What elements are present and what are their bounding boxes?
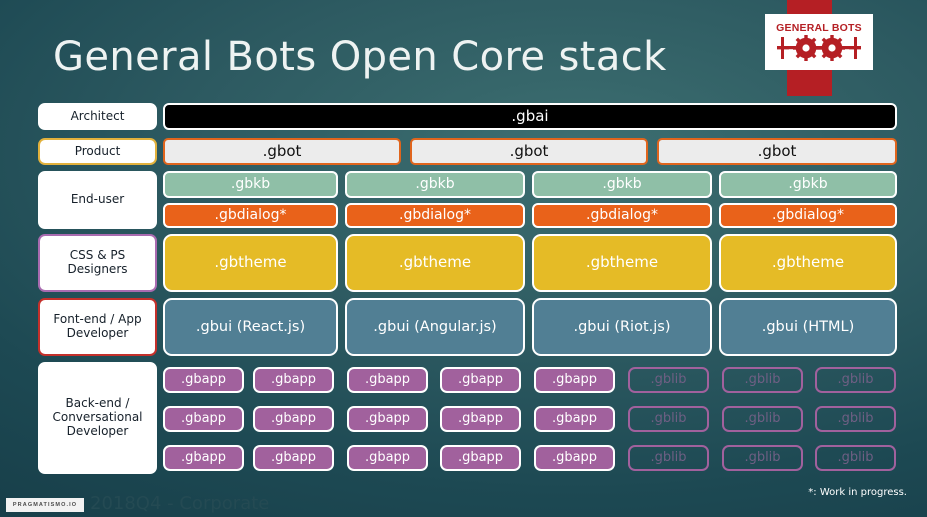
- layer-gbkb-4: .gbkb: [719, 171, 897, 198]
- layer-gbdialog-4: .gbdialog*: [719, 203, 897, 228]
- layer-gbkb-2: .gbkb: [345, 171, 525, 198]
- layer-gbapp: .gbapp: [163, 445, 244, 471]
- layer-gbdialog-3: .gbdialog*: [532, 203, 712, 228]
- layer-gbtheme-3: .gbtheme: [532, 234, 712, 292]
- layer-gbtheme-1: .gbtheme: [163, 234, 338, 292]
- layer-gbai: .gbai: [163, 103, 897, 130]
- pragmatismo-logo-text: PRAGMATISMO.IO: [13, 502, 77, 508]
- layer-gbdialog-1: .gbdialog*: [163, 203, 338, 228]
- layer-gbapp: .gbapp: [253, 445, 334, 471]
- layer-gblib: .gblib: [815, 445, 896, 471]
- layer-gbui-react: .gbui (React.js): [163, 298, 338, 356]
- layer-gbapp: .gbapp: [440, 367, 521, 393]
- layer-gblib: .gblib: [722, 406, 803, 432]
- gears-logo-icon: [777, 35, 861, 61]
- footer-label: 2018Q4 - Corporate: [90, 493, 269, 514]
- role-css-ps-designers: CSS & PS Designers: [38, 234, 157, 292]
- layer-gbot-3: .gbot: [657, 138, 897, 165]
- slide-canvas: GENERAL BOTS: [0, 0, 927, 517]
- layer-gbapp: .gbapp: [347, 445, 428, 471]
- pragmatismo-logo: PRAGMATISMO.IO: [6, 498, 84, 512]
- logo-wordmark: GENERAL BOTS: [776, 23, 862, 34]
- layer-gbapp: .gbapp: [163, 406, 244, 432]
- layer-gbtheme-4: .gbtheme: [719, 234, 897, 292]
- layer-gblib: .gblib: [628, 367, 709, 393]
- page-title: General Bots Open Core stack: [53, 34, 667, 80]
- layer-gbapp: .gbapp: [347, 406, 428, 432]
- layer-gbui-html: .gbui (HTML): [719, 298, 897, 356]
- layer-gbui-riot: .gbui (Riot.js): [532, 298, 712, 356]
- role-product: Product: [38, 138, 157, 165]
- layer-gbtheme-2: .gbtheme: [345, 234, 525, 292]
- layer-gbapp: .gbapp: [253, 406, 334, 432]
- layer-gbapp: .gbapp: [534, 445, 615, 471]
- layer-gblib: .gblib: [722, 445, 803, 471]
- layer-gbapp: .gbapp: [534, 367, 615, 393]
- layer-gbapp: .gbapp: [163, 367, 244, 393]
- role-backend-conversational-developer: Back-end / Conversational Developer: [38, 362, 157, 474]
- layer-gbapp: .gbapp: [534, 406, 615, 432]
- role-frontend-app-developer: Font-end / App Developer: [38, 298, 157, 356]
- layer-gblib: .gblib: [628, 445, 709, 471]
- role-architect: Architect: [38, 103, 157, 130]
- layer-gbkb-1: .gbkb: [163, 171, 338, 198]
- layer-gbui-angular: .gbui (Angular.js): [345, 298, 525, 356]
- layer-gblib: .gblib: [722, 367, 803, 393]
- work-in-progress-footnote: *: Work in progress.: [808, 487, 907, 498]
- layer-gbapp: .gbapp: [440, 445, 521, 471]
- layer-gbot-2: .gbot: [410, 138, 648, 165]
- layer-gbapp: .gbapp: [440, 406, 521, 432]
- layer-gblib: .gblib: [815, 406, 896, 432]
- layer-gbkb-3: .gbkb: [532, 171, 712, 198]
- role-end-user: End-user: [38, 171, 157, 229]
- layer-gbdialog-2: .gbdialog*: [345, 203, 525, 228]
- layer-gblib: .gblib: [628, 406, 709, 432]
- layer-gbapp: .gbapp: [253, 367, 334, 393]
- layer-gbot-1: .gbot: [163, 138, 401, 165]
- general-bots-logo: GENERAL BOTS: [765, 14, 873, 70]
- layer-gbapp: .gbapp: [347, 367, 428, 393]
- layer-gblib: .gblib: [815, 367, 896, 393]
